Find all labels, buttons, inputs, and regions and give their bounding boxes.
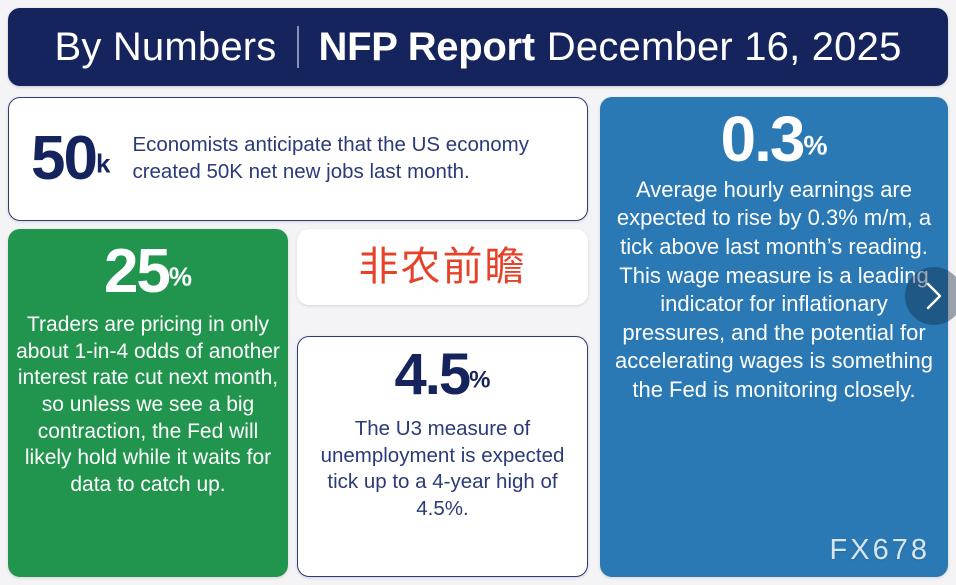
jobs-value: 50 [31,130,96,189]
report-date: December 16, 2025 [547,27,902,67]
wages-figure: 0.3% [610,109,938,170]
jobs-description: Economists anticipate that the US econom… [132,132,571,185]
header-content: By Numbers NFP Report December 16, 2025 [54,26,901,68]
unemployment-value: 4.5 [395,347,470,402]
headline-label-text: 非农前瞻 [359,247,527,287]
rate-cut-value: 25 [104,243,169,302]
wages-value: 0.3 [721,109,804,170]
report-title: NFP Report [319,27,535,67]
stat-card-unemployment: 4.5% The U3 measure of unemployment is e… [297,336,588,577]
watermark: FX678 [830,534,930,567]
jobs-figure: 50k [31,130,110,189]
rate-cut-suffix: % [169,262,192,292]
rate-cut-figure: 25% [16,243,280,302]
unemployment-figure: 4.5% [310,347,575,402]
stat-card-rate-cut: 25% Traders are pricing in only about 1-… [8,229,288,577]
unemployment-description: The U3 measure of unemployment is expect… [310,416,575,523]
brand-title: By Numbers [54,27,276,67]
rate-cut-description: Traders are pricing in only about 1-in-4… [16,312,280,499]
infographic-page: By Numbers NFP Report December 16, 2025 … [0,0,956,585]
headline-label-card: 非农前瞻 [297,229,588,305]
chevron-right-icon [923,281,945,311]
unemployment-suffix: % [469,367,490,394]
header-bar: By Numbers NFP Report December 16, 2025 [8,8,948,86]
stat-card-jobs: 50k Economists anticipate that the US ec… [8,97,588,221]
wages-suffix: % [803,131,827,161]
wages-description: Average hourly earnings are expected to … [610,176,938,405]
jobs-suffix: k [96,148,110,178]
next-slide-button[interactable] [905,267,956,325]
stat-card-wages: 0.3% Average hourly earnings are expecte… [600,97,948,577]
header-divider [297,26,299,68]
